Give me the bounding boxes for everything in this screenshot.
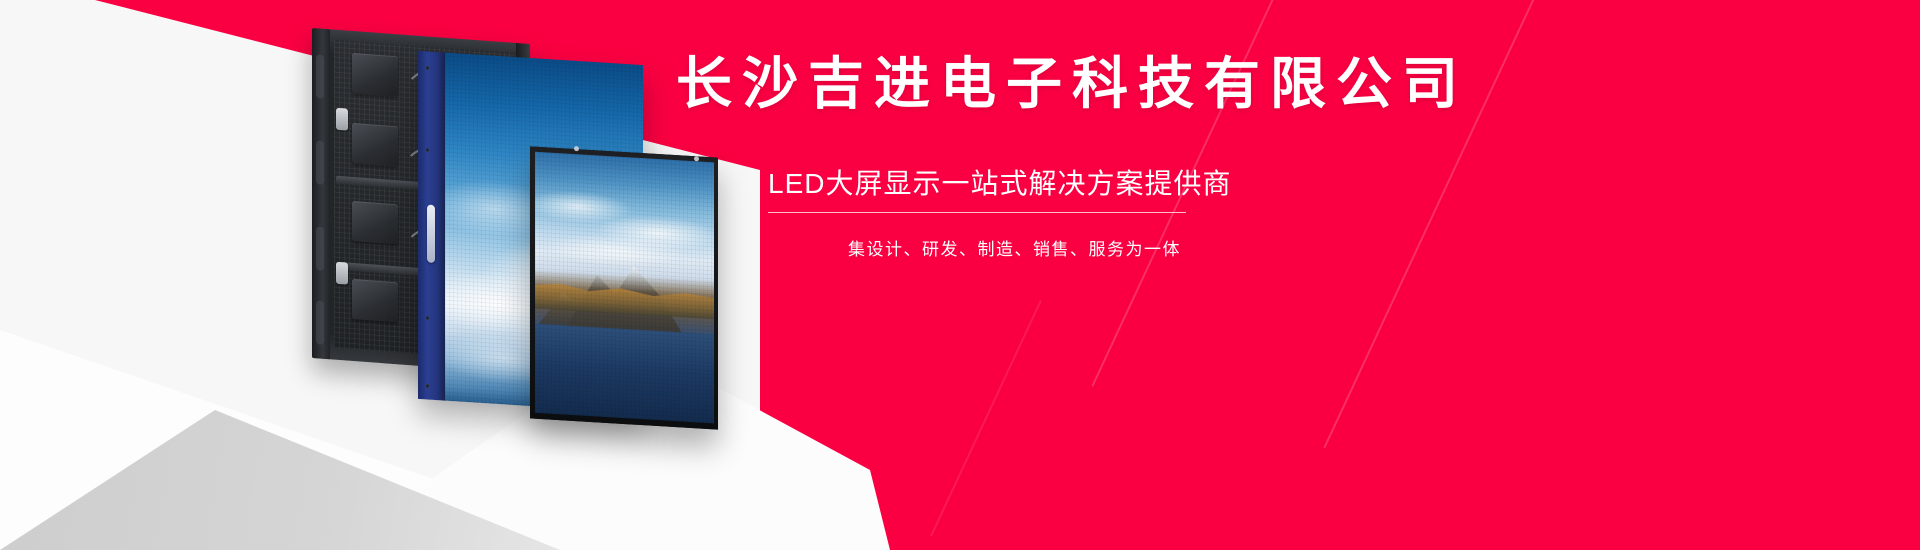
cabinet-module-box (352, 53, 398, 96)
subtitle-divider (768, 212, 1186, 213)
panel-screw (425, 65, 430, 70)
hero-banner: 长沙吉进电子科技有限公司 LED大屏显示一站式解决方案提供商 集设计、研发、制造… (0, 0, 1920, 550)
cabinet-vent-slot (316, 300, 324, 345)
subtitle-block: LED大屏显示一站式解决方案提供商 (768, 162, 1186, 213)
panel-screw (425, 315, 430, 320)
cabinet-vent-slot (316, 140, 324, 185)
cabinet-module-box (352, 201, 398, 244)
panel-screw (425, 147, 430, 152)
cabinet-module-box (352, 123, 398, 166)
banner-subtitle: LED大屏显示一站式解决方案提供商 (768, 162, 1186, 202)
panel-handle (427, 205, 435, 264)
page-title: 长沙吉进电子科技有限公司 (676, 52, 1776, 116)
banner-copy: 长沙吉进电子科技有限公司 LED大屏显示一站式解决方案提供商 集设计、研发、制造… (676, 52, 1776, 260)
panel-top-fastener (574, 146, 579, 151)
cabinet-power-connector (336, 262, 348, 285)
cabinet-power-connector (336, 108, 348, 131)
panel-screw (425, 383, 430, 388)
cabinet-vent-slot (316, 54, 324, 99)
cabinet-module-box (352, 279, 398, 322)
banner-tagline: 集设计、研发、制造、销售、服务为一体 (848, 235, 1776, 260)
cabinet-vent-slot (316, 226, 324, 271)
